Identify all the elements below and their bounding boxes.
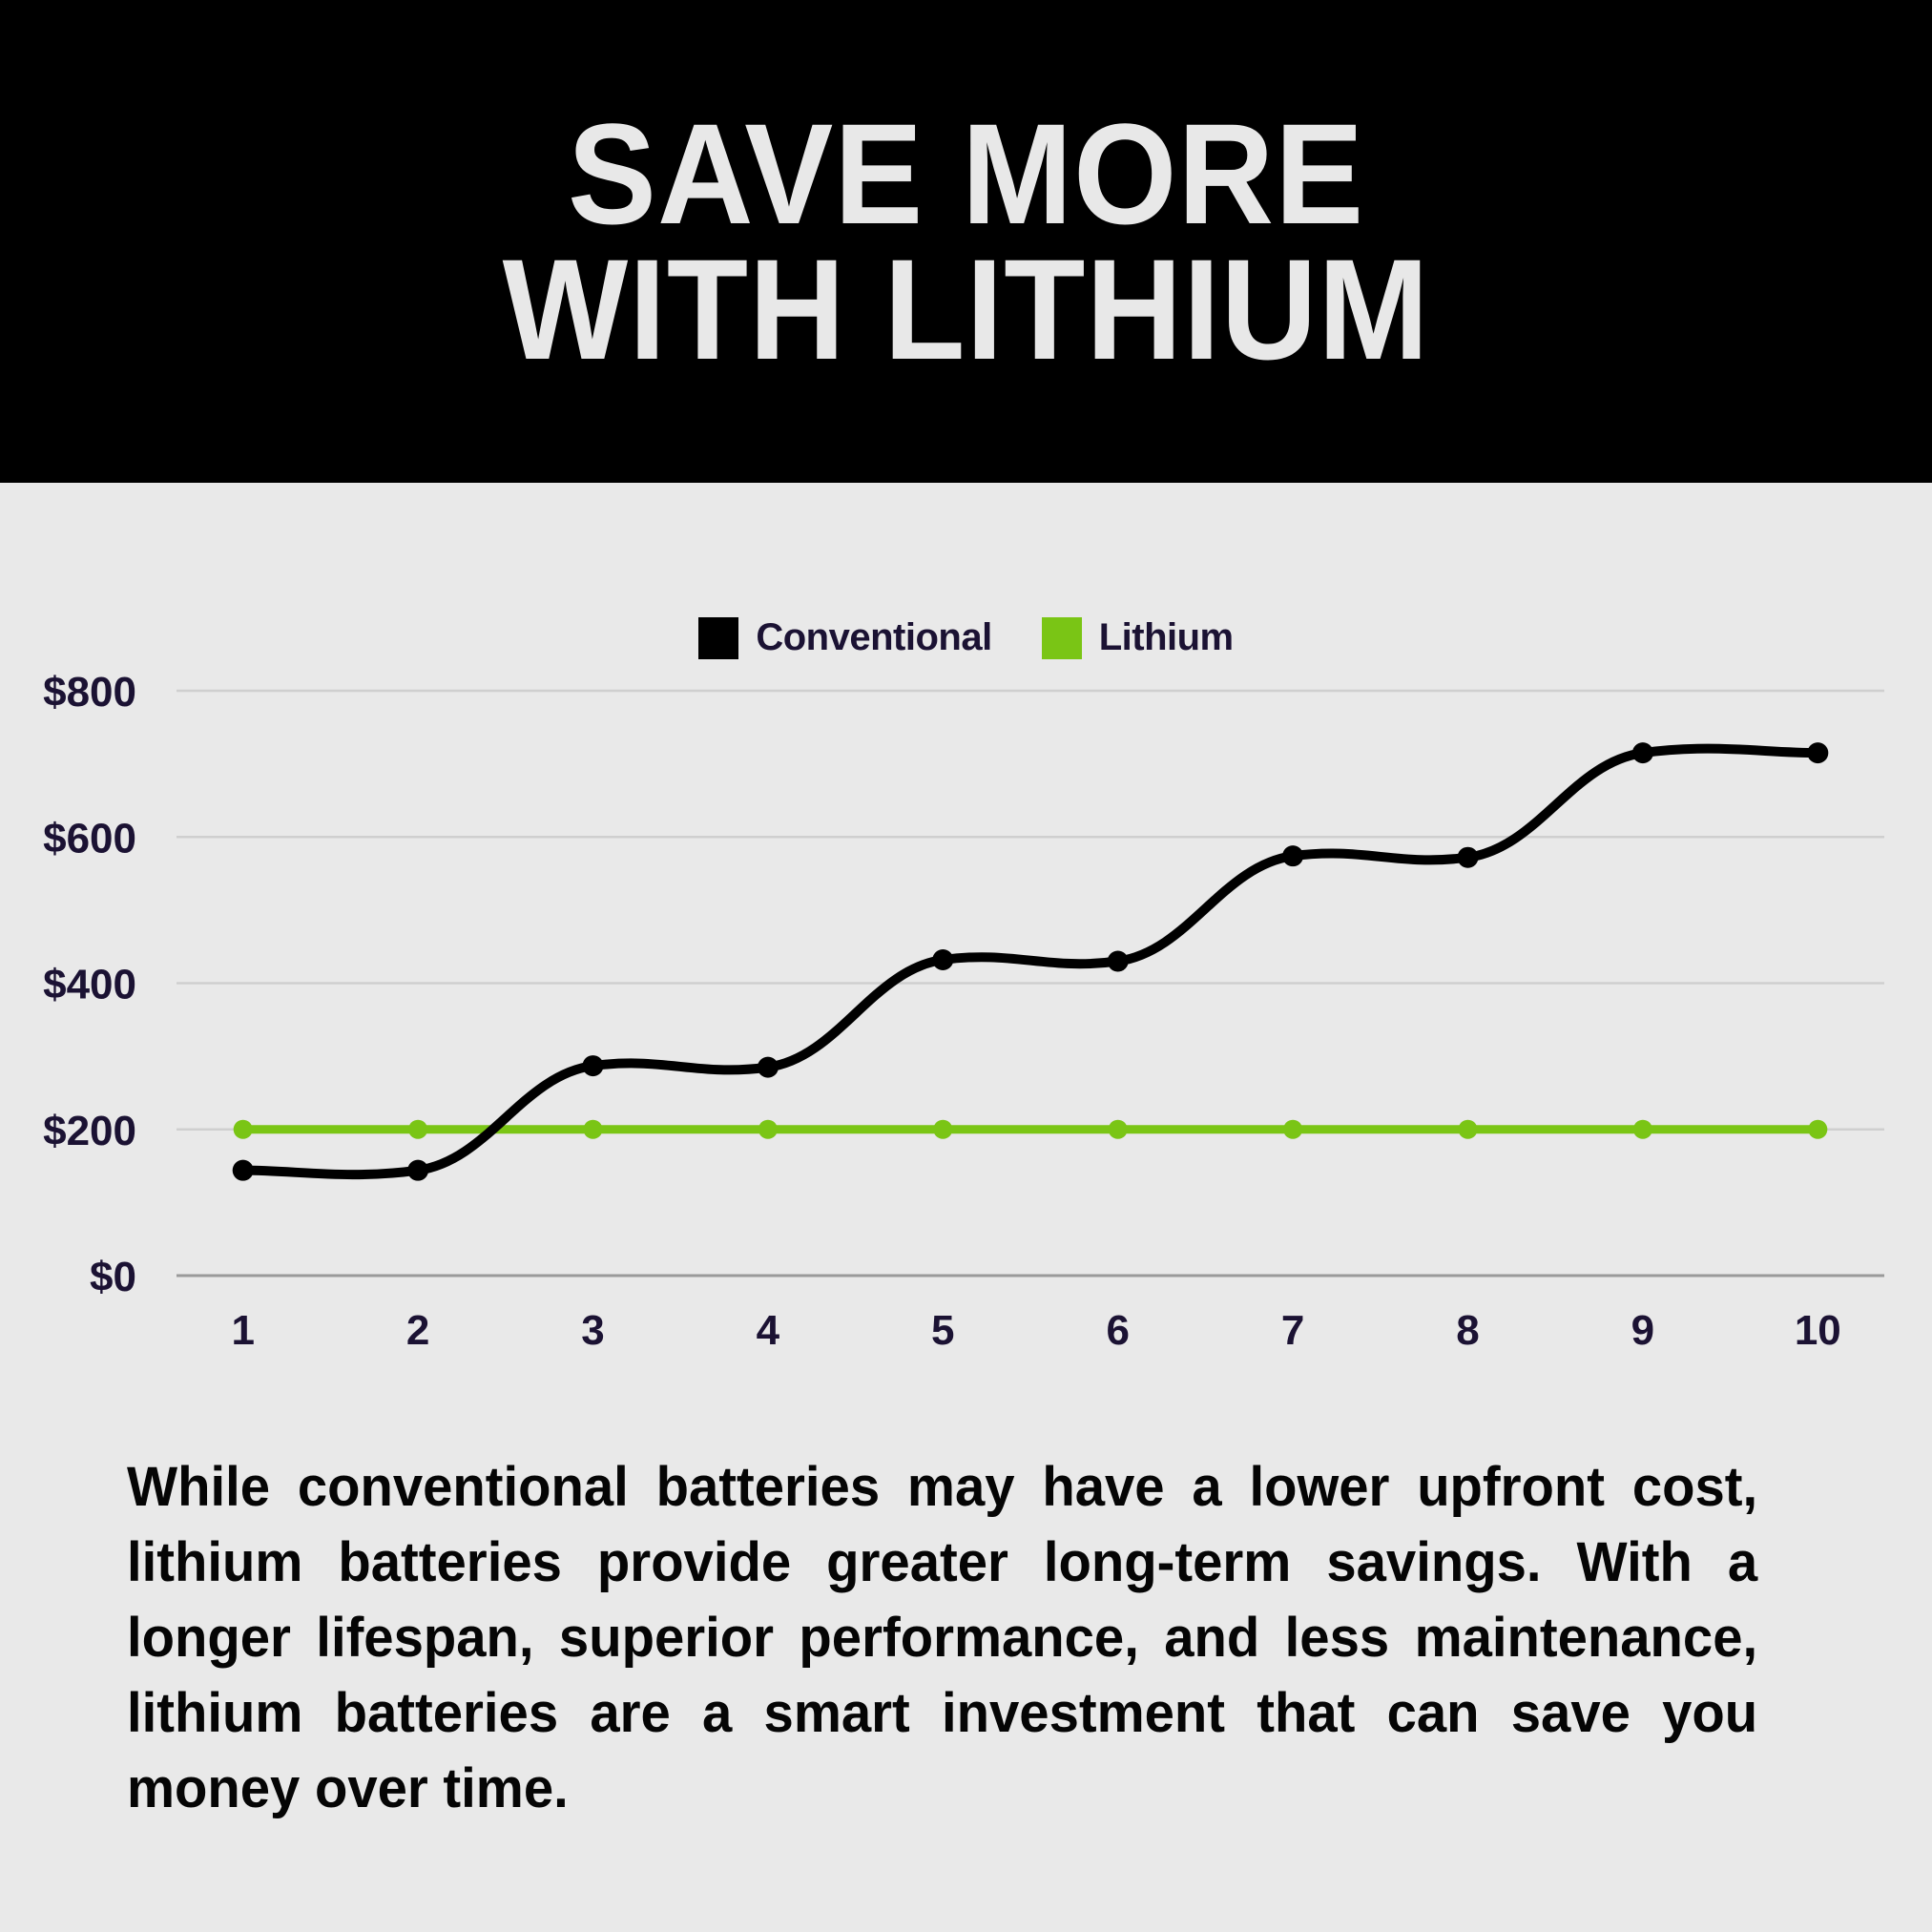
data-point-conventional-3[interactable] [582, 1055, 603, 1076]
data-point-conventional-2[interactable] [407, 1160, 428, 1181]
x-axis-tick-label-4: 4 [757, 1307, 780, 1354]
line-chart-plot: $800$600$400$200$012345678910 [0, 483, 1932, 1427]
x-axis-tick-label-2: 2 [406, 1307, 429, 1354]
x-axis-tick-label-5: 5 [931, 1307, 954, 1354]
y-axis-tick-label-800: $800 [43, 669, 136, 716]
x-axis-tick-label-10: 10 [1795, 1307, 1841, 1354]
data-point-lithium-3[interactable] [583, 1120, 602, 1139]
data-point-lithium-2[interactable] [408, 1120, 427, 1139]
data-point-conventional-7[interactable] [1282, 845, 1303, 866]
data-point-lithium-4[interactable] [758, 1120, 778, 1139]
data-point-conventional-4[interactable] [758, 1057, 779, 1078]
data-point-conventional-6[interactable] [1108, 951, 1129, 972]
data-point-lithium-6[interactable] [1109, 1120, 1128, 1139]
y-axis-tick-label-0: $0 [90, 1254, 136, 1300]
data-point-lithium-10[interactable] [1808, 1120, 1827, 1139]
data-point-lithium-1[interactable] [234, 1120, 253, 1139]
chart-container: Conventional Lithium $800$600$400$200$01… [0, 483, 1932, 1427]
series-line-conventional [243, 749, 1818, 1174]
x-axis-tick-label-8: 8 [1456, 1307, 1479, 1354]
data-point-conventional-5[interactable] [932, 949, 953, 970]
infographic-poster: SAVE MORE WITH LITHIUM Conventional Lith… [0, 0, 1932, 1932]
data-point-conventional-1[interactable] [233, 1160, 254, 1181]
data-point-conventional-8[interactable] [1458, 847, 1479, 868]
y-axis-tick-label-600: $600 [43, 815, 136, 862]
data-point-lithium-9[interactable] [1633, 1120, 1652, 1139]
x-axis-tick-label-1: 1 [231, 1307, 254, 1354]
data-point-lithium-7[interactable] [1283, 1120, 1302, 1139]
data-point-conventional-9[interactable] [1632, 742, 1653, 763]
x-axis-tick-label-3: 3 [581, 1307, 604, 1354]
x-axis-tick-label-6: 6 [1106, 1307, 1129, 1354]
y-axis-tick-label-200: $200 [43, 1108, 136, 1154]
x-axis-tick-label-9: 9 [1631, 1307, 1654, 1354]
data-point-conventional-10[interactable] [1807, 742, 1828, 763]
data-point-lithium-8[interactable] [1459, 1120, 1478, 1139]
x-axis-tick-label-7: 7 [1281, 1307, 1304, 1354]
data-point-lithium-5[interactable] [933, 1120, 952, 1139]
page-title-line-2: WITH LITHIUM [503, 241, 1430, 378]
header-banner: SAVE MORE WITH LITHIUM [0, 0, 1932, 483]
y-axis-tick-label-400: $400 [43, 962, 136, 1008]
page-title: SAVE MORE WITH LITHIUM [503, 106, 1430, 378]
body-paragraph: While conventional batteries may have a … [127, 1450, 1757, 1826]
